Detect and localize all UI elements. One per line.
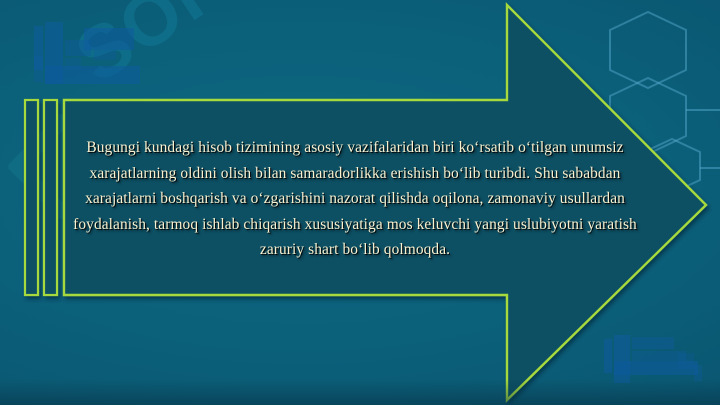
arrow-shape: [0, 0, 720, 405]
bottom-fade: [0, 379, 720, 405]
slide-canvas: SOFT: [0, 0, 720, 405]
